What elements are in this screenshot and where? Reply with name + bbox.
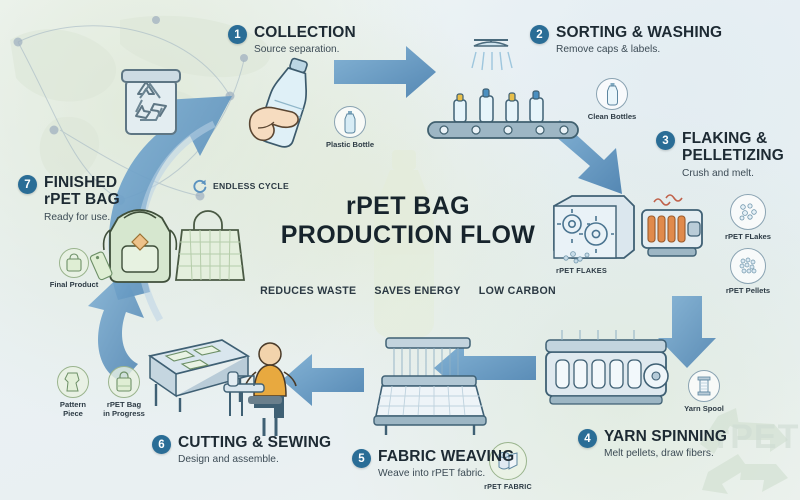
step-3-flaking-pelletizing[interactable]: 3 FLAKING & PELLETIZING Crush and melt. <box>656 130 784 180</box>
step-4-title: YARN SPINNING <box>604 428 727 445</box>
pattern-piece-chip: Pattern Piece <box>50 366 96 418</box>
rpet-fabric-caption: rPET FABRIC <box>474 483 542 491</box>
title-line-2: PRODUCTION FLOW <box>258 221 558 250</box>
melting-extruder-illustration <box>632 192 710 268</box>
rpet-pellets-icon <box>730 248 766 284</box>
clean-bottles-caption: Clean Bottles <box>580 113 644 122</box>
step-1-subtitle: Source separation. <box>254 44 356 56</box>
plastic-bottle-caption: Plastic Bottle <box>318 141 382 150</box>
step-7-badge: 7 <box>18 175 37 194</box>
step-5-subtitle: Weave into rPET fabric. <box>378 468 514 480</box>
rpet-pellets-chip: rPET Pellets <box>716 248 780 296</box>
final-product-caption: Final Product <box>42 281 106 290</box>
step-3-badge: 3 <box>656 131 675 150</box>
plastic-bottle-icon <box>334 106 366 138</box>
rpet-pellets-caption: rPET Pellets <box>716 287 780 296</box>
step-2-title: SORTING & WASHING <box>556 24 722 41</box>
title-line-1: rPET BAG <box>258 192 558 221</box>
benefit-reduces-waste: REDUCES WASTE <box>251 285 365 297</box>
tote-bag-icon <box>108 366 140 398</box>
step-5-fabric-weaving[interactable]: 5 FABRIC WEAVING Weave into rPET fabric. <box>352 448 514 481</box>
step-3-subtitle: Crush and melt. <box>682 168 784 180</box>
pattern-piece-caption: Pattern Piece <box>50 401 96 418</box>
step-6-badge: 6 <box>152 435 171 454</box>
rpet-flakes-caption: rPET FLakes <box>716 233 780 242</box>
sewing-worker-illustration <box>218 336 318 442</box>
step-2-subtitle: Remove caps & labels. <box>556 44 722 56</box>
step-6-cutting-sewing[interactable]: 6 CUTTING & SEWING Design and assemble. <box>152 434 331 467</box>
infographic-canvas: rPET <box>0 0 800 500</box>
step-6-title: CUTTING & SEWING <box>178 434 331 451</box>
weaving-loom-illustration <box>372 330 494 438</box>
step-7-finished-bag[interactable]: 7 FINISHED rPET BAG Ready for use. <box>18 174 120 224</box>
rpet-flakes-chip: rPET FLakes <box>716 194 780 242</box>
yarn-spool-icon <box>688 370 720 402</box>
step-4-yarn-spinning[interactable]: 4 YARN SPINNING Melt pellets, draw fiber… <box>578 428 727 461</box>
step-4-badge: 4 <box>578 429 597 448</box>
step-4-subtitle: Melt pellets, draw fibers. <box>604 448 727 460</box>
bag-in-progress-chip: rPET Bag in Progress <box>98 366 150 418</box>
step-2-badge: 2 <box>530 25 549 44</box>
step-1-collection[interactable]: 1 COLLECTION Source separation. <box>228 24 356 57</box>
step-1-badge: 1 <box>228 25 247 44</box>
rpet-flakes-icon <box>730 194 766 230</box>
step-1-title: COLLECTION <box>254 24 356 41</box>
final-product-chip: Final Product <box>42 248 106 290</box>
step-3-title: FLAKING & PELLETIZING <box>682 130 784 165</box>
clean-bottles-chip: Clean Bottles <box>580 78 644 122</box>
final-product-icon <box>59 248 89 278</box>
refresh-cycle-icon <box>192 178 208 194</box>
pattern-piece-icon <box>57 366 89 398</box>
yarn-spinning-machine-illustration <box>540 326 680 412</box>
clean-bottle-icon <box>596 78 628 110</box>
benefits-row: REDUCES WASTE SAVES ENERGY LOW CARBON <box>258 283 558 299</box>
center-title-block: rPET BAG PRODUCTION FLOW <box>258 192 558 250</box>
endless-cycle-label: ENDLESS CYCLE <box>213 181 289 191</box>
step-6-subtitle: Design and assemble. <box>178 454 331 466</box>
benefit-saves-energy: SAVES ENERGY <box>365 285 469 297</box>
rpet-flakes-machine-caption: rPET FLAKES <box>556 266 607 275</box>
step-7-title: FINISHED rPET BAG <box>44 174 120 209</box>
bag-in-progress-caption: rPET Bag in Progress <box>98 401 150 418</box>
benefit-low-carbon: LOW CARBON <box>470 285 565 297</box>
yarn-spool-chip: Yarn Spool <box>672 370 736 414</box>
step-5-badge: 5 <box>352 449 371 468</box>
yarn-spool-caption: Yarn Spool <box>672 405 736 414</box>
plastic-bottle-chip: Plastic Bottle <box>318 106 382 150</box>
step-5-title: FABRIC WEAVING <box>378 448 514 465</box>
recycling-bin-illustration <box>118 64 190 142</box>
finished-tote-illustration <box>174 208 252 288</box>
step-7-subtitle: Ready for use. <box>44 212 120 224</box>
flakes-sprinkle-icon <box>560 248 594 266</box>
step-2-sorting-washing[interactable]: 2 SORTING & WASHING Remove caps & labels… <box>530 24 722 57</box>
